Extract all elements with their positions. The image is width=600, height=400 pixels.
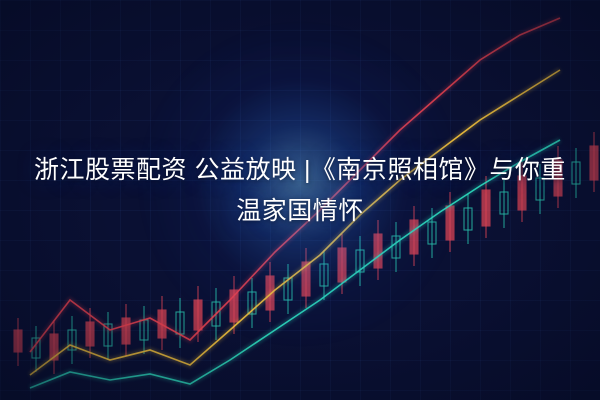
caption-text: 浙江股票配资 公益放映 |《南京照相馆》与你重 温家国情怀 — [0, 150, 600, 232]
background-image: 浙江股票配资 公益放映 |《南京照相馆》与你重 温家国情怀 — [0, 0, 600, 400]
caption-line-1: 浙江股票配资 公益放映 |《南京照相馆》与你重 — [26, 150, 574, 191]
caption-line-2: 温家国情怀 — [26, 191, 574, 232]
